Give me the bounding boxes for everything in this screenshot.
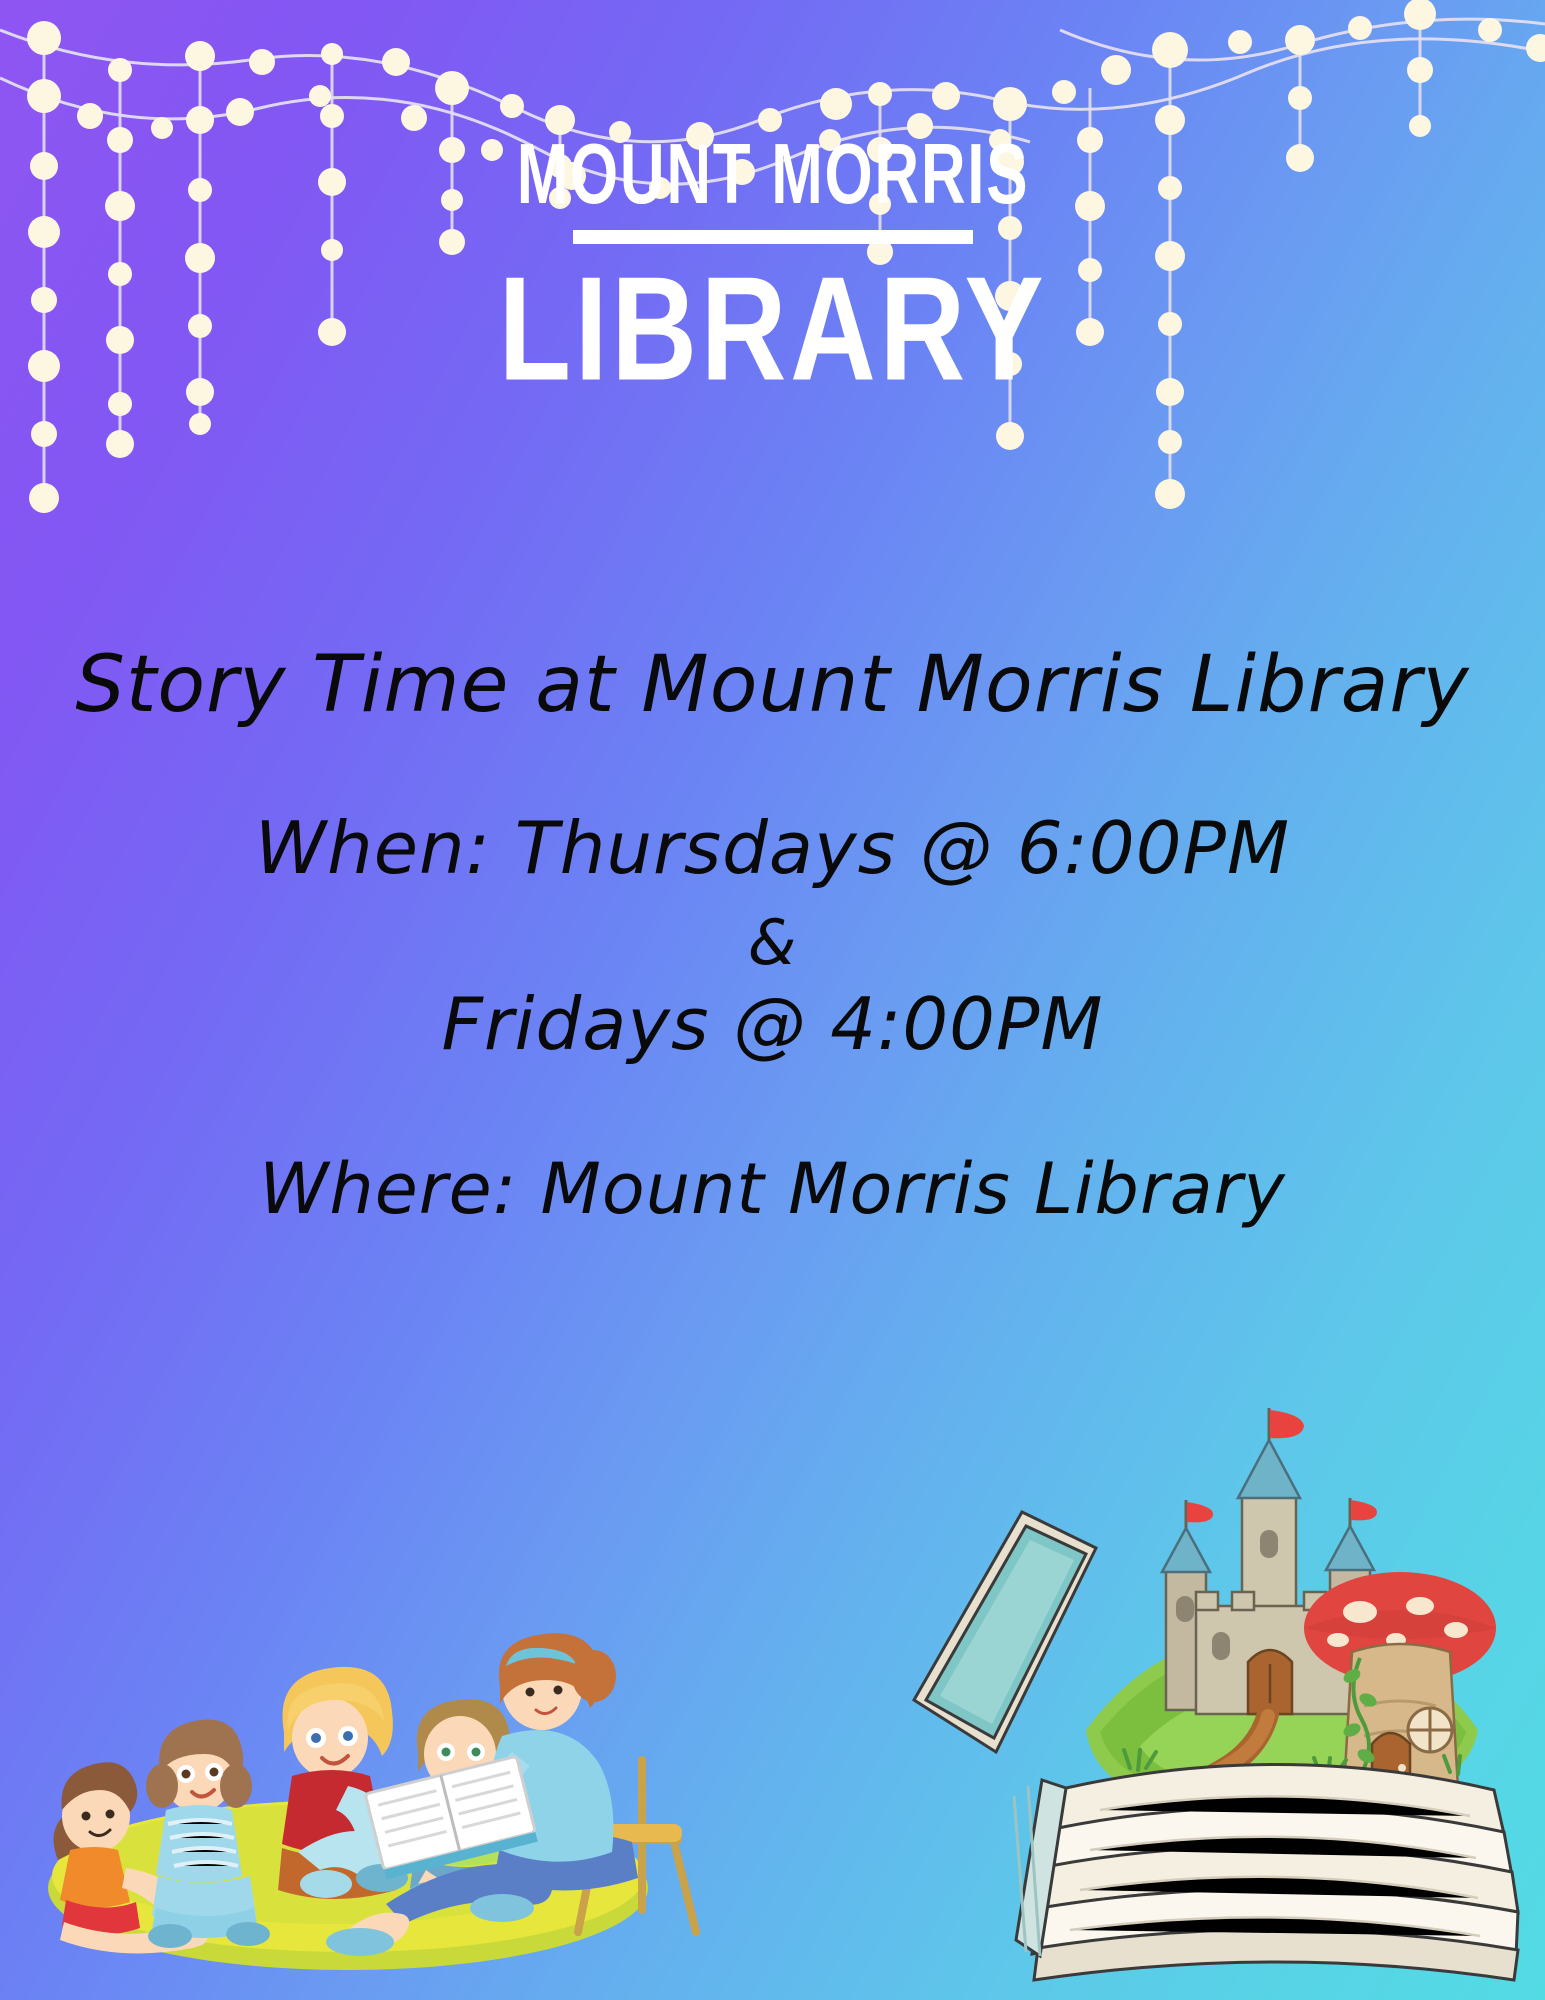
book-left-cover	[914, 1512, 1096, 1752]
when-thursday-line: When: Thursdays @ 6:00PM	[0, 806, 1545, 890]
book-pages-base	[1032, 1764, 1518, 1980]
logo-line-mount-morris: MOUNT MORRIS	[516, 132, 1029, 217]
logo-divider-rule	[573, 230, 973, 244]
open-book-with-castle-illustration	[890, 1400, 1520, 2000]
library-logo: MOUNT MORRIS LIBRARY	[0, 132, 1545, 389]
page-title: Story Time at Mount Morris Library	[0, 640, 1545, 730]
when-friday-line: Fridays @ 4:00PM	[0, 982, 1545, 1066]
children-story-time-illustration	[30, 1480, 710, 1980]
where-line: Where: Mount Morris Library	[0, 1148, 1545, 1230]
logo-line-library: LIBRARY	[498, 254, 1047, 405]
poster-canvas: MOUNT MORRIS LIBRARY Story Time at Mount…	[0, 0, 1545, 2000]
ampersand-separator: &	[0, 906, 1545, 979]
